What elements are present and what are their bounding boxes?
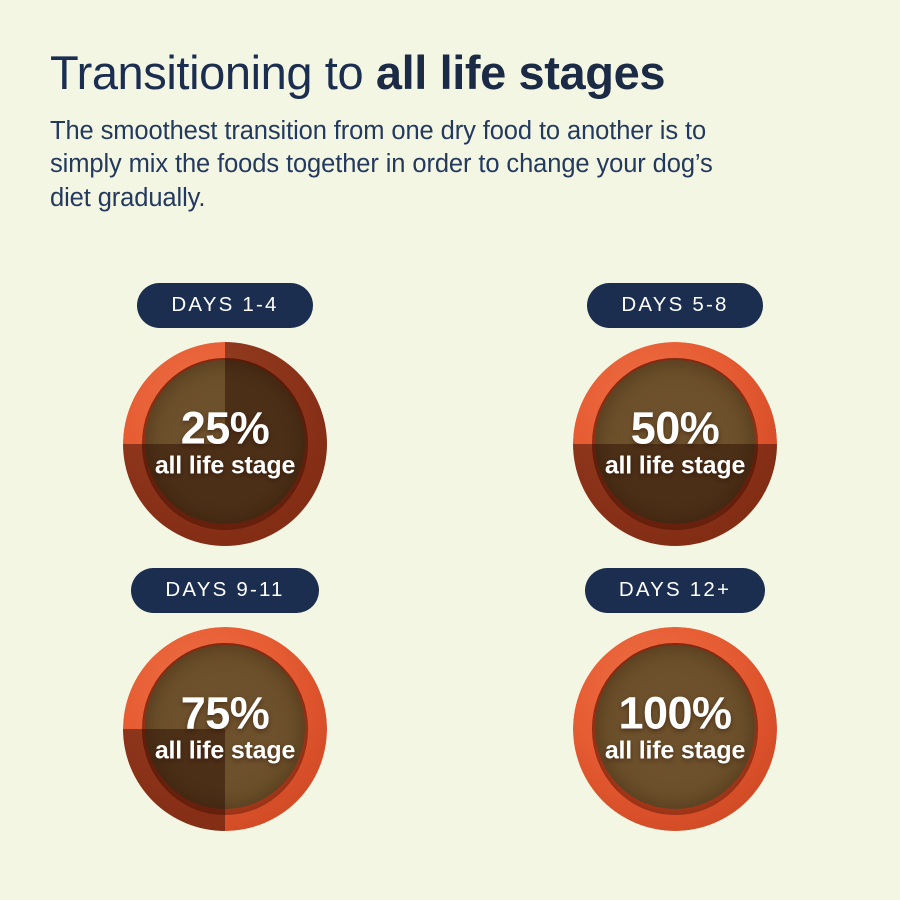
steps-row-2: DAYS 9-11 75% all life stage — [0, 568, 900, 831]
kibble-fill-1 — [145, 360, 304, 523]
steps-row-1: DAYS 1-4 25% all life stage — [0, 283, 900, 546]
page-title-regular: Transitioning to — [50, 46, 376, 99]
step-card-3: DAYS 9-11 75% all life stage — [0, 568, 450, 831]
bowl-graphic-1 — [123, 342, 327, 546]
transition-steps: DAYS 1-4 25% all life stage — [0, 283, 900, 831]
step-badge-days-12-plus: DAYS 12+ — [585, 568, 765, 613]
food-bowl-2: 50% all life stage — [573, 342, 777, 546]
food-bowl-4: 100% all life stage — [573, 627, 777, 831]
step-card-1: DAYS 1-4 25% all life stage — [0, 283, 450, 546]
bowl-graphic-3 — [123, 627, 327, 831]
step-badge-days-1-4: DAYS 1-4 — [137, 283, 312, 328]
step-card-4: DAYS 12+ 100% all life stage — [450, 568, 900, 831]
bowl-graphic-2 — [573, 342, 777, 546]
page-subtitle: The smoothest transition from one dry fo… — [50, 115, 750, 216]
header: Transitioning to all life stages The smo… — [50, 48, 870, 216]
page-title: Transitioning to all life stages — [50, 48, 870, 99]
kibble-fill-2 — [595, 360, 754, 523]
step-card-2: DAYS 5-8 50% all life stage — [450, 283, 900, 546]
step-badge-days-5-8: DAYS 5-8 — [587, 283, 762, 328]
kibble-fill-3 — [145, 645, 304, 808]
bowl-graphic-4 — [573, 627, 777, 831]
kibble-fill-4 — [595, 645, 754, 808]
food-bowl-3: 75% all life stage — [123, 627, 327, 831]
food-bowl-1: 25% all life stage — [123, 342, 327, 546]
page-title-bold: all life stages — [376, 46, 665, 99]
step-badge-days-9-11: DAYS 9-11 — [131, 568, 318, 613]
